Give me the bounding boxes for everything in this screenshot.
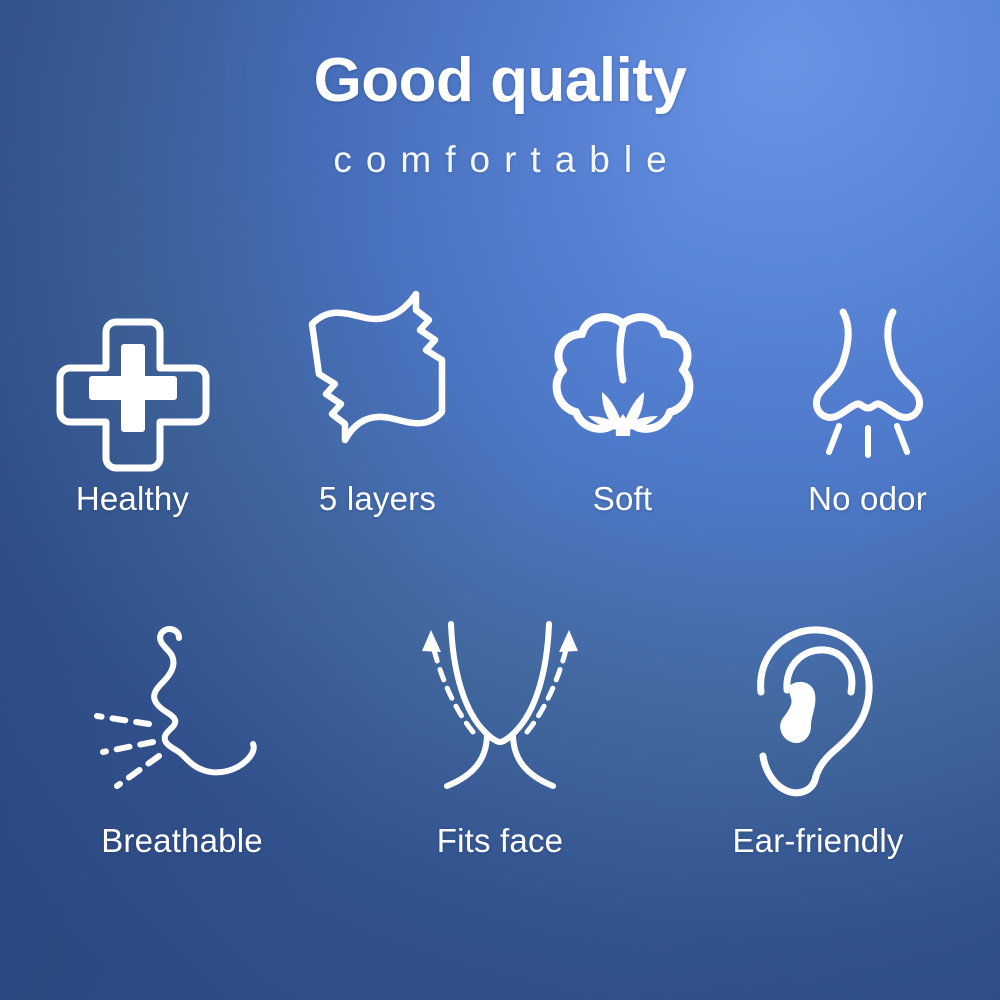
feature-ear-friendly: Ear-friendly xyxy=(659,612,977,860)
medical-cross-icon xyxy=(58,282,208,460)
feature-label: Breathable xyxy=(101,822,263,860)
page-subtitle: comfortable xyxy=(0,140,1000,181)
feature-label: 5 layers xyxy=(319,480,436,518)
feature-row-2: Breathable xyxy=(0,612,1000,860)
page-title: Good quality xyxy=(0,48,1000,114)
layered-fabric-swatch-icon xyxy=(290,282,466,460)
feature-row-1: Healthy 5 layers xyxy=(0,282,1000,518)
promo-poster: Good quality comfortable Healthy xyxy=(0,0,1000,1000)
feature-label: Ear-friendly xyxy=(732,822,903,860)
ear-icon xyxy=(743,612,893,800)
feature-label: Fits face xyxy=(437,822,564,860)
feature-breathable: Breathable xyxy=(23,612,341,860)
feature-label: No odor xyxy=(808,480,927,518)
cotton-boll-icon xyxy=(544,282,702,460)
feature-label: Soft xyxy=(593,480,653,518)
nose-icon xyxy=(795,282,941,460)
face-profile-breath-icon xyxy=(87,612,277,800)
feature-label: Healthy xyxy=(76,480,189,518)
feature-soft: Soft xyxy=(500,282,745,518)
chin-jawline-arrows-icon xyxy=(395,612,605,800)
heading-block: Good quality comfortable xyxy=(0,48,1000,180)
feature-5-layers: 5 layers xyxy=(255,282,500,518)
feature-fits-face: Fits face xyxy=(341,612,659,860)
feature-healthy: Healthy xyxy=(10,282,255,518)
feature-no-odor: No odor xyxy=(745,282,990,518)
